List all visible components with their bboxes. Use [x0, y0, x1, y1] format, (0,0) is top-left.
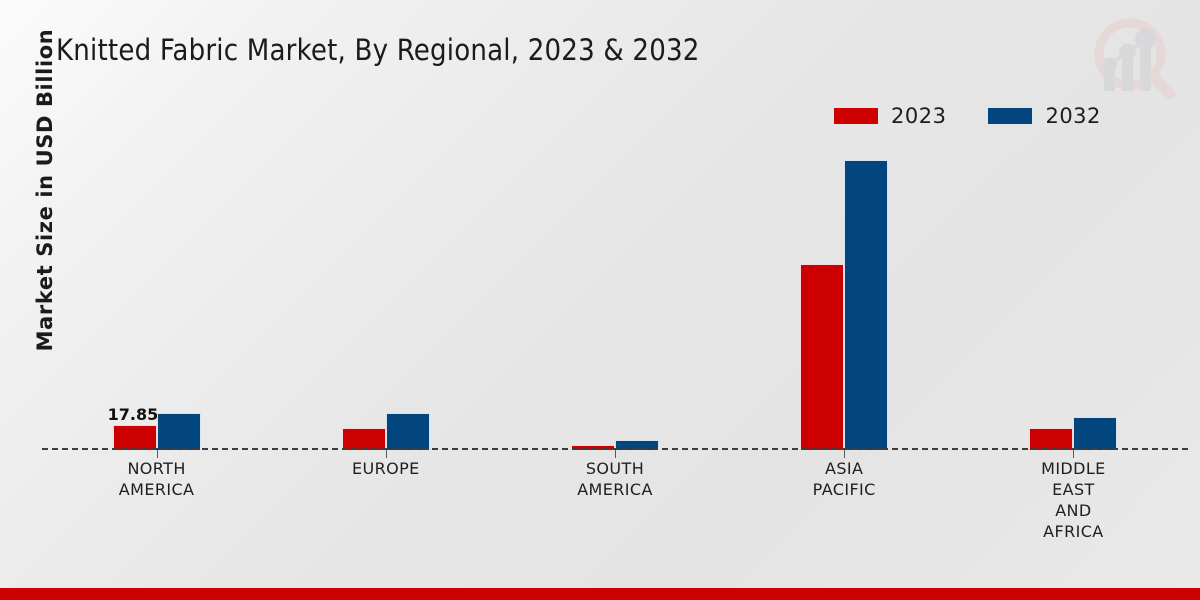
- x-axis-label-middle-east-and-africa: MIDDLEEASTANDAFRICA: [959, 458, 1188, 542]
- legend-swatch-2032: [988, 108, 1032, 124]
- chart-title: Knitted Fabric Market, By Regional, 2023…: [56, 33, 700, 67]
- bar-groups: 17.85: [42, 150, 1188, 450]
- bar-pair: [800, 150, 888, 450]
- legend-item-2032[interactable]: 2032: [988, 104, 1100, 128]
- bar-pair: [1029, 150, 1117, 450]
- x-axis-baseline: [42, 448, 1188, 450]
- bar-2032-europe[interactable]: [386, 413, 430, 450]
- bar-group: [959, 150, 1188, 450]
- x-axis-label-line: ASIA: [730, 458, 959, 479]
- bar-2023-asia-pacific[interactable]: [800, 264, 844, 450]
- x-axis-label-line: AFRICA: [959, 521, 1188, 542]
- x-axis-label-south-america: SOUTHAMERICA: [500, 458, 729, 542]
- x-axis-label-north-america: NORTHAMERICA: [42, 458, 271, 542]
- x-axis-tick: [157, 450, 158, 458]
- bar-2023-europe[interactable]: [342, 428, 386, 450]
- x-axis-tick: [844, 450, 845, 458]
- bar-2023-north-america[interactable]: 17.85: [113, 425, 157, 450]
- bar-group: [500, 150, 729, 450]
- bar-group: 17.85: [42, 150, 271, 450]
- legend-label-2023: 2023: [891, 104, 946, 128]
- x-axis-label-line: EAST: [959, 479, 1188, 500]
- x-axis-label-line: AMERICA: [42, 479, 271, 500]
- legend-swatch-2023: [834, 108, 878, 124]
- bar-group: [730, 150, 959, 450]
- x-axis-label-line: SOUTH: [500, 458, 729, 479]
- x-axis-tick: [386, 450, 387, 458]
- x-axis-label-line: NORTH: [42, 458, 271, 479]
- x-axis-tick: [1073, 450, 1074, 458]
- bar-group: [271, 150, 500, 450]
- bar-value-label: 17.85: [108, 405, 159, 424]
- x-axis-tick: [615, 450, 616, 458]
- x-axis-label-line: MIDDLE: [959, 458, 1188, 479]
- bar-pair: [571, 150, 659, 450]
- bar-2032-asia-pacific[interactable]: [844, 160, 888, 450]
- bar-2023-middle-east-and-africa[interactable]: [1029, 428, 1073, 450]
- x-axis-label-line: AMERICA: [500, 479, 729, 500]
- plot-area: 17.85: [42, 150, 1188, 450]
- x-axis-label-line: PACIFIC: [730, 479, 959, 500]
- bar-pair: [342, 150, 430, 450]
- x-axis-category-labels: NORTHAMERICAEUROPESOUTHAMERICAASIAPACIFI…: [42, 458, 1188, 542]
- x-axis-label-europe: EUROPE: [271, 458, 500, 542]
- footer-accent-bar: [0, 588, 1200, 600]
- x-axis-label-asia-pacific: ASIAPACIFIC: [730, 458, 959, 542]
- chart-legend: 2023 2032: [834, 104, 1101, 128]
- legend-label-2032: 2032: [1045, 104, 1100, 128]
- chart-canvas: Knitted Fabric Market, By Regional, 2023…: [0, 0, 1200, 600]
- bar-2032-north-america[interactable]: [157, 413, 201, 450]
- watermark-logo-icon: [1078, 10, 1182, 106]
- legend-item-2023[interactable]: 2023: [834, 104, 946, 128]
- x-axis-label-line: AND: [959, 500, 1188, 521]
- bar-2032-middle-east-and-africa[interactable]: [1073, 417, 1117, 450]
- bar-pair: 17.85: [113, 150, 201, 450]
- x-axis-label-line: EUROPE: [271, 458, 500, 479]
